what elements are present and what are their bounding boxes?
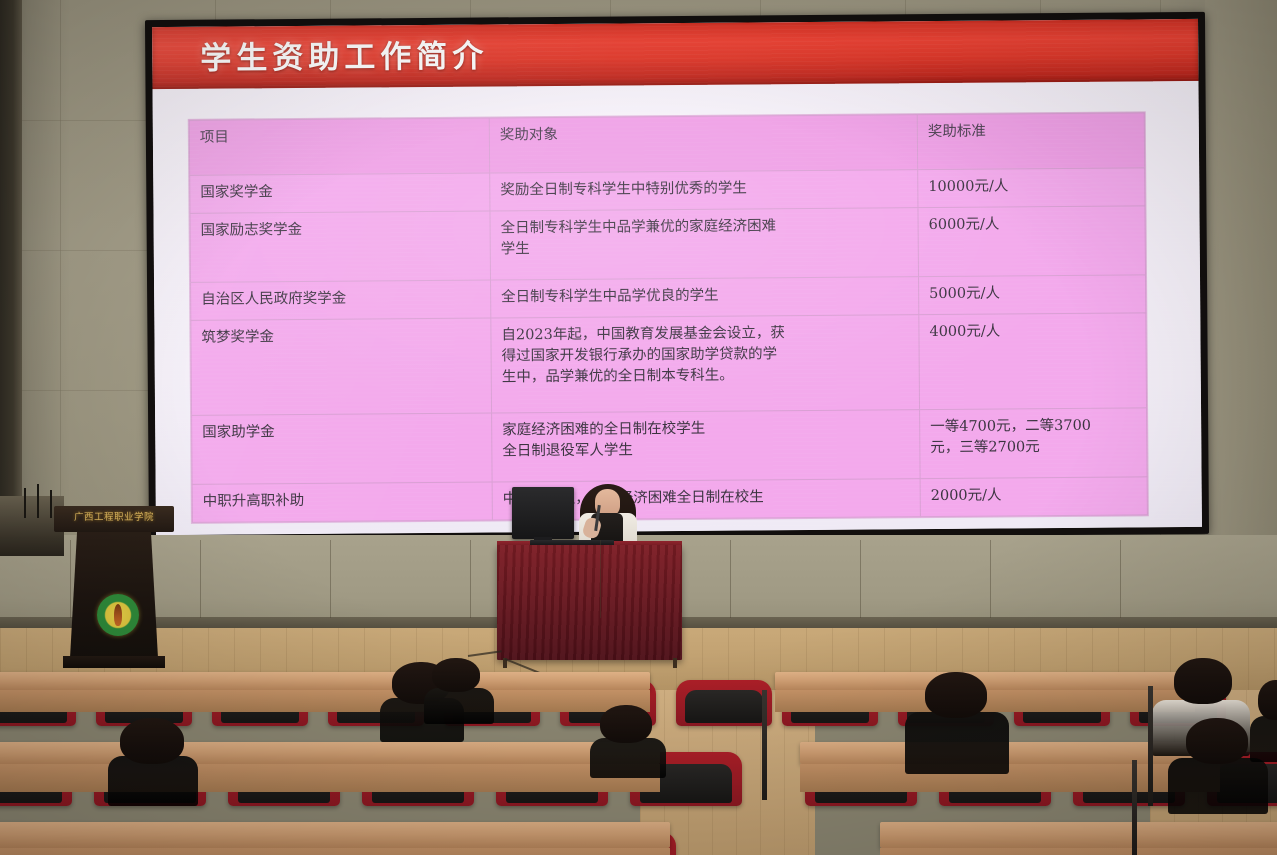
funding-policy-table: 项目 奖助对象 奖助标准 国家奖学金奖励全日制专科学生中特别优秀的学生10000…	[189, 112, 1148, 523]
table-row: 筑梦奖学金自2023年起，中国教育发展基金会设立，获得过国家开发银行承办的国家助…	[191, 313, 1147, 415]
table-row: 国家助学金家庭经济困难的全日制在校学生全日制退役军人学生一等4700元，二等37…	[192, 408, 1148, 484]
speaker-table-drape	[497, 545, 682, 660]
wall-seam	[600, 540, 601, 618]
audience-desk-front	[0, 848, 670, 855]
cell-standard-line: 10000元/人	[928, 175, 1134, 198]
cell-target-line: 全日制退役军人学生	[502, 438, 909, 462]
antenna-icon	[50, 490, 52, 518]
cell-standard: 10000元/人	[918, 168, 1145, 208]
presenter-figure	[575, 480, 641, 548]
wall-seam	[70, 540, 71, 618]
audience-desk-front	[0, 690, 650, 712]
projection-screen-surface: 学生资助工作简介 项目 奖助对象 奖助标准 国家奖学金奖励全日制专科学生中特别优…	[152, 19, 1202, 535]
antenna-icon	[24, 488, 26, 518]
cell-item: 筑梦奖学金	[191, 318, 492, 415]
cell-target: 全日制专科学生中品学优良的学生	[491, 277, 919, 318]
audience-desk	[0, 742, 660, 764]
column-header-standard: 奖助标准	[917, 113, 1144, 170]
wall-seam	[730, 540, 731, 618]
attendee-head	[925, 672, 987, 718]
cell-standard-line: 2000元/人	[931, 484, 1137, 507]
cell-target-line: 生中，品学兼优的全日制本专科生。	[502, 364, 909, 388]
audience-desk-front	[0, 764, 660, 792]
attendee-head	[1186, 718, 1248, 764]
wall-seam	[470, 540, 471, 618]
cell-target: 奖励全日制专科学生中特别优秀的学生	[490, 170, 918, 211]
lectern-sign: 广西工程职业学院	[54, 509, 174, 526]
attendee-head	[600, 705, 652, 743]
wall-seam	[860, 540, 861, 618]
cell-item: 国家助学金	[192, 413, 493, 484]
cell-target: 家庭经济困难的全日制在校学生全日制退役军人学生	[492, 410, 921, 482]
cell-item: 自治区人民政府奖学金	[191, 280, 491, 320]
cell-target: 全日制专科学生中品学兼优的家庭经济困难学生	[490, 208, 919, 280]
cell-standard-line: 元，三等2700元	[930, 436, 1136, 459]
lectern: 广西工程职业学院	[66, 506, 162, 666]
audience-desk-front	[880, 848, 1277, 855]
cell-standard: 5000元/人	[919, 275, 1146, 315]
attendee-head	[1174, 658, 1232, 704]
table-leg	[673, 658, 677, 668]
wall-seam	[330, 540, 331, 618]
cell-target: 自2023年起，中国教育发展基金会设立，获得过国家开发银行承办的国家助学贷款的学…	[491, 315, 920, 413]
audience-desk	[880, 822, 1277, 848]
attendee-torso	[1168, 758, 1268, 814]
cell-standard: 4000元/人	[919, 313, 1147, 410]
cell-item: 中职升高职补助	[192, 482, 492, 522]
lectern-base	[63, 656, 165, 668]
attendee-head	[120, 718, 184, 764]
cell-standard: 6000元/人	[918, 206, 1146, 277]
slide-title-banner: 学生资助工作简介	[152, 19, 1198, 89]
slide-title: 学生资助工作简介	[200, 30, 488, 77]
aisle-divider-post	[1132, 760, 1137, 855]
attendee-torso	[905, 712, 1009, 774]
attendee-torso	[424, 688, 494, 724]
attendee-torso	[1250, 716, 1277, 762]
audience-desk	[0, 822, 670, 848]
cell-target-line: 学生	[501, 236, 908, 260]
audience-desk	[0, 672, 650, 690]
table-row: 国家励志奖学金全日制专科学生中品学兼优的家庭经济困难学生6000元/人	[190, 206, 1146, 282]
table-row: 中职升高职补助中职升高职，家庭经济困难全日制在校生2000元/人	[192, 477, 1147, 523]
presentation-slide: 学生资助工作简介 项目 奖助对象 奖助标准 国家奖学金奖励全日制专科学生中特别优…	[152, 19, 1202, 535]
table-header-row: 项目 奖助对象 奖助标准	[189, 113, 1144, 175]
antenna-icon	[37, 484, 39, 518]
wall-seam	[1120, 540, 1121, 618]
cell-standard-line: 6000元/人	[929, 213, 1135, 236]
wall-seam	[200, 540, 201, 618]
lecture-hall-scene: 学生资助工作简介 项目 奖助对象 奖助标准 国家奖学金奖励全日制专科学生中特别优…	[0, 0, 1277, 855]
wall-seam	[990, 540, 991, 618]
column-header-target: 奖助对象	[489, 115, 917, 173]
cell-item: 国家奖学金	[190, 173, 490, 213]
cell-standard-line: 4000元/人	[929, 320, 1135, 343]
cell-standard: 一等4700元，二等3700元，三等2700元	[920, 408, 1148, 479]
cell-item: 国家励志奖学金	[190, 211, 491, 282]
seat-chair	[676, 680, 772, 726]
wall-right-panel	[1205, 0, 1277, 610]
desktop-monitor-icon	[512, 487, 574, 539]
lectern-body	[70, 532, 158, 658]
column-header-item: 项目	[189, 118, 489, 175]
audience-desk-front	[800, 764, 1220, 792]
school-crest-icon	[97, 594, 139, 636]
cell-target-line: 全日制专科学生中品学优良的学生	[501, 284, 908, 308]
cell-standard-line: 一等4700元，二等3700	[930, 415, 1136, 438]
wall-left-dark-strip	[0, 0, 22, 560]
cell-target-line: 奖励全日制专科学生中特别优秀的学生	[500, 177, 907, 201]
projection-screen-bezel: 学生资助工作简介 项目 奖助对象 奖助标准 国家奖学金奖励全日制专科学生中特别优…	[145, 12, 1209, 542]
cell-standard: 2000元/人	[920, 477, 1147, 517]
attendee-head	[432, 658, 480, 692]
aisle-divider-post	[762, 690, 767, 800]
table-body: 国家奖学金奖励全日制专科学生中特别优秀的学生10000元/人国家励志奖学金全日制…	[190, 168, 1148, 523]
attendee-torso	[590, 738, 666, 778]
cell-standard-line: 5000元/人	[929, 282, 1135, 305]
aisle-divider-post	[1148, 686, 1153, 806]
